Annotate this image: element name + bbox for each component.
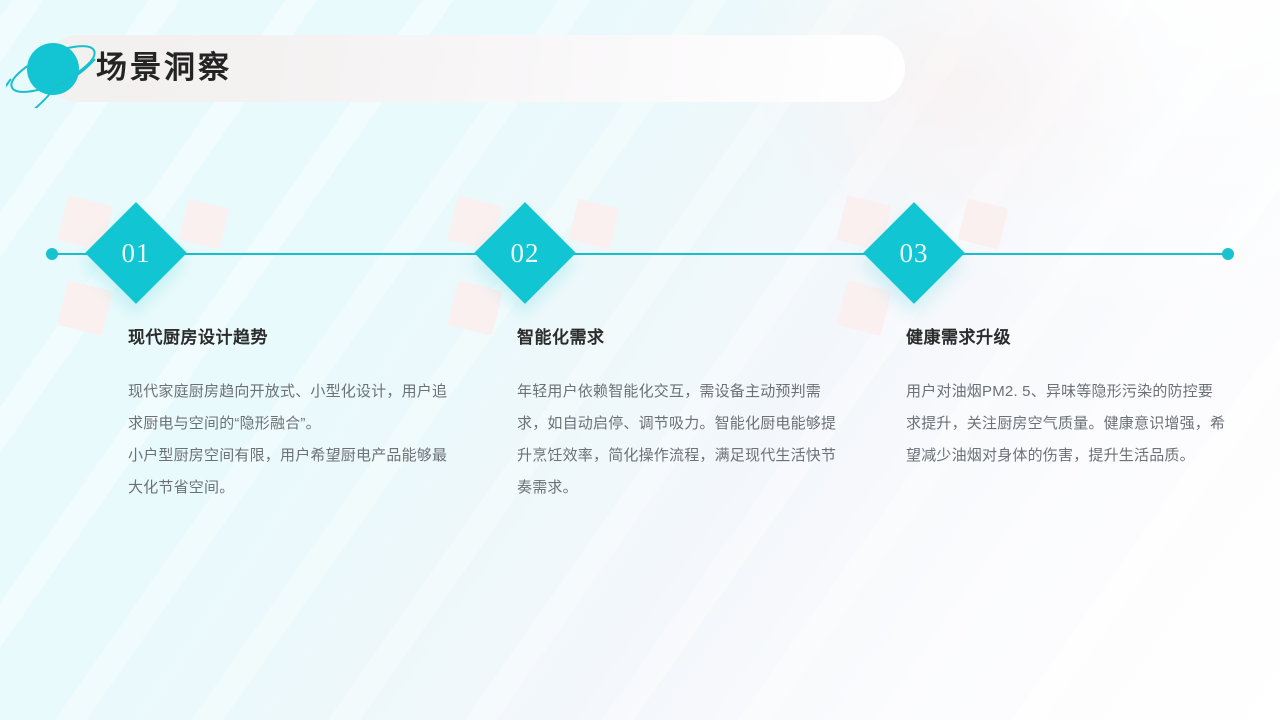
decorative-square bbox=[569, 199, 620, 250]
timeline-end-dot bbox=[1222, 248, 1234, 260]
column-body: 现代家庭厨房趋向开放式、小型化设计，用户追求厨电与空间的“隐形融合”。 小户型厨… bbox=[128, 376, 450, 504]
column-body: 用户对油烟PM2. 5、异味等隐形污染的防控要求提升，关注厨房空气质量。健康意识… bbox=[906, 376, 1228, 472]
column-body: 年轻用户依赖智能化交互，需设备主动预判需求，如自动启停、调节吸力。智能化厨电能够… bbox=[517, 376, 839, 504]
timeline-node-02[interactable]: 02 bbox=[475, 203, 575, 303]
column-title: 智能化需求 bbox=[517, 326, 839, 350]
decorative-square bbox=[179, 199, 230, 250]
column-title: 健康需求升级 bbox=[906, 326, 1228, 350]
timeline-start-dot bbox=[46, 248, 58, 260]
timeline-axis bbox=[52, 253, 1228, 255]
timeline-node-01[interactable]: 01 bbox=[86, 203, 186, 303]
timeline-node-number: 02 bbox=[475, 203, 575, 303]
content-column-03: 健康需求升级 用户对油烟PM2. 5、异味等隐形污染的防控要求提升，关注厨房空气… bbox=[906, 326, 1228, 472]
timeline-node-number: 01 bbox=[86, 203, 186, 303]
timeline-node-03[interactable]: 03 bbox=[864, 203, 964, 303]
content-column-02: 智能化需求 年轻用户依赖智能化交互，需设备主动预判需求，如自动启停、调节吸力。智… bbox=[517, 326, 839, 504]
timeline-node-number: 03 bbox=[864, 203, 964, 303]
slide-canvas: 场景洞察 01 02 03 bbox=[0, 0, 1280, 720]
decorative-square bbox=[958, 199, 1009, 250]
column-title: 现代厨房设计趋势 bbox=[128, 326, 450, 350]
content-column-01: 现代厨房设计趋势 现代家庭厨房趋向开放式、小型化设计，用户追求厨电与空间的“隐形… bbox=[128, 326, 450, 504]
